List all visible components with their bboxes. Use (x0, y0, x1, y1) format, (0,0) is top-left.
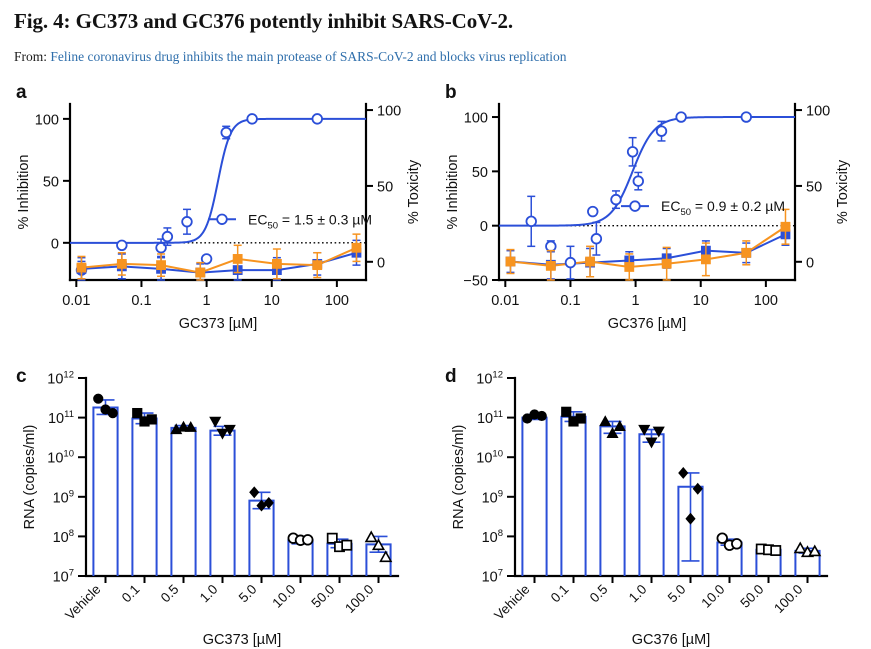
source-article-link[interactable]: Feline coronavirus drug inhibits the mai… (50, 49, 566, 64)
data-point-filled-square (625, 263, 634, 272)
y-tick-label: 1012 (476, 370, 503, 388)
panel-d-chart: 107108109101010111012RNA (copies/ml)Vehi… (437, 358, 865, 648)
data-point-filled-triangle-down (217, 429, 227, 438)
x-tick-label: 0.1 (131, 293, 151, 309)
panel-a-chart: 0501000501000.010.1110100% Inhibition% T… (8, 82, 428, 332)
data-point-open-circle (676, 112, 686, 122)
data-point-filled-square (586, 257, 595, 266)
data-point-filled-square (701, 255, 710, 264)
x-tick-label: 10 (264, 293, 280, 309)
data-point-filled-square (352, 243, 361, 252)
bar (522, 418, 546, 576)
y-axis-label-left: % Inhibition (445, 155, 461, 230)
data-point-open-circle (117, 240, 127, 250)
bar (93, 407, 117, 576)
y-axis-label-left: % Inhibition (16, 155, 32, 230)
bar (210, 431, 234, 576)
bar (561, 417, 585, 576)
panel-c-chart: 107108109101010111012RNA (copies/ml)Vehi… (8, 358, 428, 648)
y-tick-label: 1012 (47, 370, 74, 388)
legend-label: EC50 = 1.5 ± 0.3 µM (248, 211, 372, 231)
x-tick-label: 1 (203, 293, 211, 309)
data-point-filled-square (546, 261, 555, 270)
y-tick-label-right: 50 (377, 179, 393, 195)
x-tick-label: 50.0 (308, 582, 337, 611)
y-axis-label: RNA (copies/ml) (22, 425, 38, 530)
bar (639, 434, 663, 576)
legend-ec50: EC50 = 0.9 ± 0.2 µM (621, 198, 785, 218)
x-axis-label: GC373 [µM] (179, 316, 257, 332)
y-tick-label: 1011 (477, 409, 503, 427)
data-point-filled-circle (94, 394, 103, 403)
x-tick-label: 100 (325, 293, 349, 309)
y-tick-label-left: −50 (463, 274, 488, 290)
y-tick-label-right: 0 (806, 255, 814, 271)
data-point-filled-square (506, 257, 515, 266)
data-point-filled-circle (537, 411, 546, 420)
data-point-filled-square (133, 408, 142, 417)
x-tick-label: 1 (632, 293, 640, 309)
data-point-open-circle (611, 195, 621, 205)
x-tick-label: Vehicle (62, 582, 103, 623)
data-point-filled-square (742, 248, 751, 257)
data-point-open-circle (630, 201, 640, 211)
panel-b: b −500501000501000.010.1110100% Inhibiti… (437, 82, 865, 332)
x-tick-label: 1.0 (626, 582, 650, 606)
data-point-filled-square (157, 261, 166, 270)
data-point-open-circle (732, 539, 742, 549)
data-point-filled-square (147, 415, 156, 424)
data-point-open-circle (588, 207, 598, 217)
legend-label: EC50 = 0.9 ± 0.2 µM (661, 198, 785, 218)
x-tick-label: 0.1 (560, 293, 580, 309)
series-open-circle (526, 112, 751, 279)
figure-title: Fig. 4: GC373 and GC376 potently inhibit… (14, 8, 854, 34)
data-point-open-circle (217, 214, 227, 224)
panel-d: d 107108109101010111012RNA (copies/ml)Ve… (437, 358, 865, 648)
x-tick-label: 1.0 (197, 582, 221, 606)
x-tick-label: 50.0 (737, 582, 766, 611)
data-point-open-circle (628, 147, 638, 157)
y-tick-label: 1010 (476, 449, 503, 467)
data-point-open-triangle-up (381, 552, 391, 561)
y-axis-label: RNA (copies/ml) (451, 425, 467, 530)
data-point-filled-diamond (250, 487, 259, 497)
y-tick-label-left: 100 (35, 112, 59, 128)
y-tick-label-right: 50 (806, 179, 822, 195)
bar (132, 418, 156, 576)
data-point-open-circle (526, 217, 536, 227)
x-axis-label: GC373 [µM] (203, 632, 281, 648)
data-point-open-circle (182, 217, 192, 227)
y-tick-label-right: 0 (377, 255, 385, 271)
data-point-filled-triangle-up (186, 422, 196, 431)
x-tick-label: 0.5 (587, 582, 611, 606)
y-tick-label-left: 0 (51, 236, 59, 252)
data-point-open-circle (163, 232, 173, 242)
y-tick-label-left: 50 (43, 174, 59, 190)
data-point-filled-diamond (686, 513, 695, 523)
data-point-open-circle (156, 243, 166, 253)
y-tick-label-left: 0 (480, 219, 488, 235)
data-point-filled-diamond (679, 468, 688, 478)
bar (600, 426, 624, 576)
data-point-open-circle (566, 258, 576, 268)
panel-c: c 107108109101010111012RNA (copies/ml)Ve… (8, 358, 428, 648)
x-tick-label: 10.0 (269, 582, 298, 611)
x-tick-label: 100.0 (342, 582, 377, 617)
y-tick-label-right: 100 (377, 104, 401, 120)
data-point-open-square (771, 546, 780, 555)
figure-container: Fig. 4: GC373 and GC376 potently inhibit… (0, 0, 871, 649)
data-point-filled-square (196, 268, 205, 277)
x-tick-label: 0.1 (548, 582, 572, 606)
x-tick-label: 0.01 (62, 293, 90, 309)
x-tick-label: 0.5 (158, 582, 182, 606)
y-tick-label-right: 100 (806, 104, 830, 120)
data-point-filled-square (781, 222, 790, 231)
bar (249, 501, 273, 576)
data-point-open-circle (741, 112, 751, 122)
y-tick-label: 1010 (47, 449, 74, 467)
x-axis-label: GC376 [µM] (608, 316, 686, 332)
x-tick-label: 0.01 (491, 293, 519, 309)
data-point-open-circle (657, 126, 667, 136)
x-tick-label: Vehicle (491, 582, 532, 623)
data-point-filled-square (576, 414, 585, 423)
data-point-filled-square (272, 259, 281, 268)
panel-b-letter: b (445, 82, 457, 104)
data-point-open-circle (592, 234, 602, 244)
panel-a-letter: a (16, 82, 27, 104)
data-point-open-circle (221, 128, 231, 138)
source-label: From: (14, 49, 47, 64)
y-tick-label: 107 (482, 568, 503, 586)
y-tick-label: 109 (53, 488, 74, 506)
y-tick-label: 109 (482, 488, 503, 506)
data-point-filled-circle (108, 408, 117, 417)
y-axis-label-right: % Toxicity (835, 159, 851, 224)
y-tick-label-left: 50 (472, 165, 488, 181)
panel-d-letter: d (445, 366, 457, 388)
x-tick-label: 0.1 (119, 582, 143, 606)
panel-a: a 0501000501000.010.1110100% Inhibition%… (8, 82, 428, 332)
x-tick-label: 100 (754, 293, 778, 309)
legend-ec50: EC50 = 1.5 ± 0.3 µM (208, 211, 372, 231)
panel-b-chart: −500501000501000.010.1110100% Inhibition… (437, 82, 865, 332)
x-tick-label: 5.0 (665, 582, 689, 606)
data-point-open-circle (633, 176, 643, 186)
y-tick-label: 108 (482, 528, 503, 546)
data-point-open-circle (247, 114, 257, 124)
y-axis-label-right: % Toxicity (406, 159, 422, 224)
data-point-filled-square (117, 259, 126, 268)
y-tick-label-left: 100 (464, 111, 488, 127)
bar (171, 428, 195, 576)
series-open-circle (77, 114, 322, 279)
x-tick-label: 100.0 (771, 582, 806, 617)
data-point-open-square (342, 541, 351, 550)
y-tick-label: 108 (53, 528, 74, 546)
data-point-filled-diamond (693, 484, 702, 494)
data-point-filled-square (77, 263, 86, 272)
data-point-filled-square (233, 255, 242, 264)
x-tick-label: 5.0 (236, 582, 260, 606)
data-point-open-circle (312, 114, 322, 124)
x-axis-label: GC376 [µM] (632, 632, 710, 648)
x-tick-label: 10 (693, 293, 709, 309)
data-point-open-circle (303, 535, 313, 545)
y-tick-label: 1011 (48, 409, 74, 427)
data-point-filled-square (662, 259, 671, 268)
data-point-open-circle (546, 242, 556, 252)
y-tick-label: 107 (53, 568, 74, 586)
data-point-filled-square (313, 261, 322, 270)
x-tick-label: 10.0 (698, 582, 727, 611)
data-point-filled-square (562, 407, 571, 416)
panel-c-letter: c (16, 366, 27, 388)
data-point-filled-triangle-down (210, 417, 220, 426)
figure-source: From: Feline coronavirus drug inhibits t… (14, 48, 854, 66)
